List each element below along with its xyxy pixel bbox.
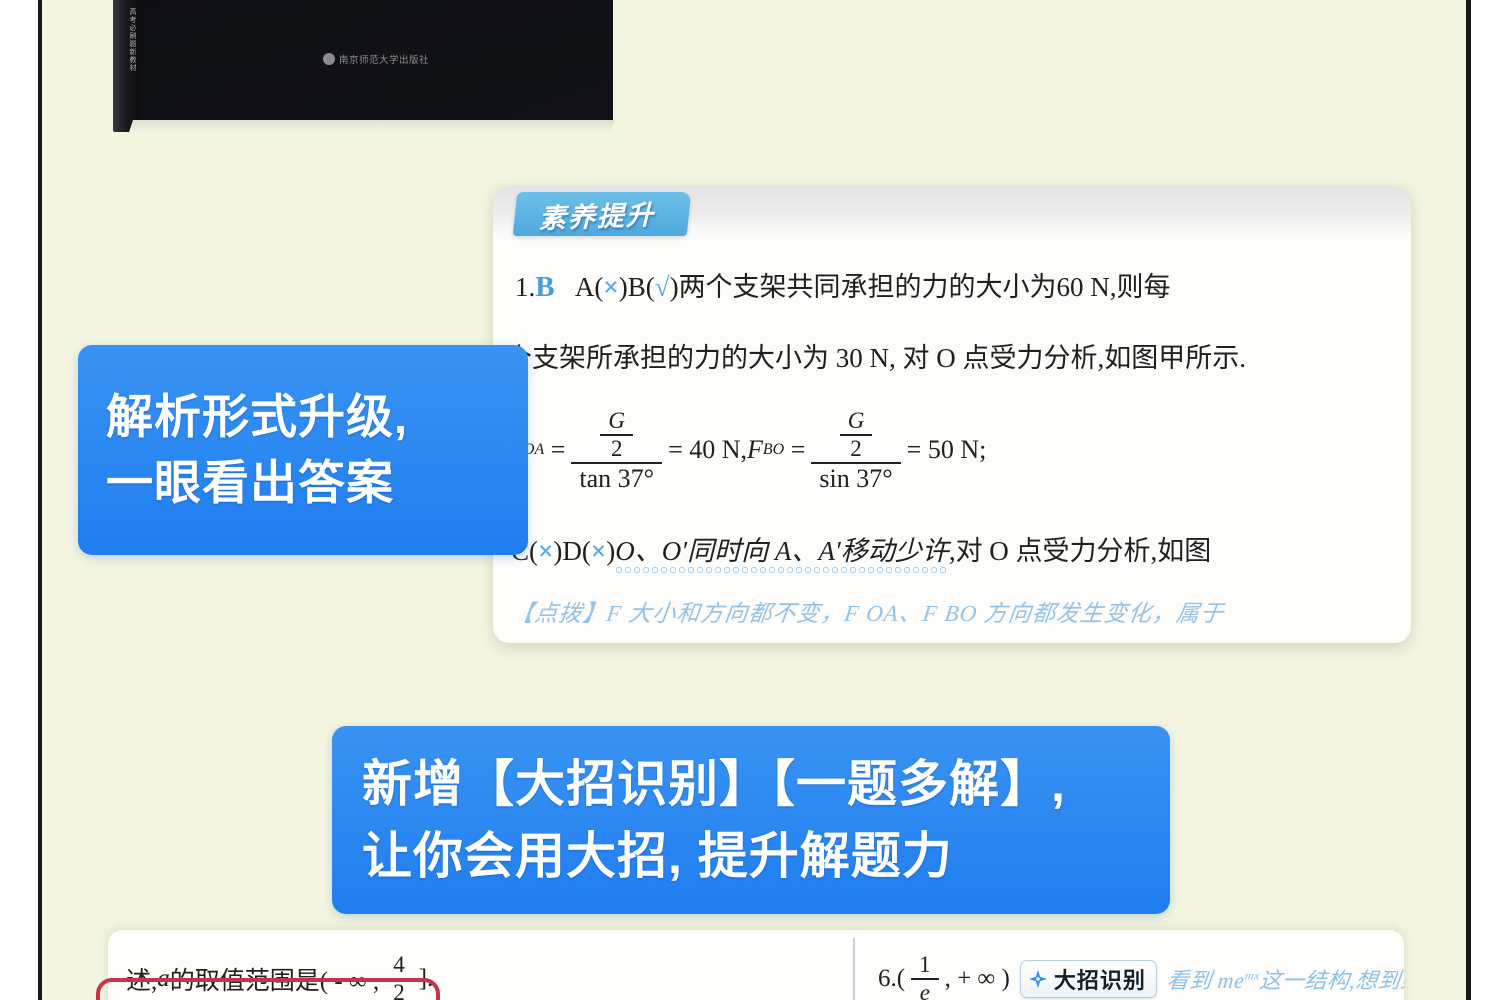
dazhao-badge-label: 大招识别 (1054, 963, 1146, 995)
product-detail-page: 语文 新高考版 南京师范大学出版社 高考必刷题新教材 素养提升 1.B A(×)… (0, 0, 1500, 1000)
formula-f1-denominator: tan 37° (571, 464, 662, 493)
answer-line-3: C(×)D(×)O、O′同时向 A、A′移动少许,对 O 点受力分析,如图 (511, 534, 1211, 568)
bottom-right-answer: 6.( 1 e , + ∞ ) 大招识别 看到 memx这一结构,想到乘 x 将 (878, 952, 1404, 1000)
answer-line-3-underlined: O、O′同时向 A、A′移动少许 (615, 536, 949, 576)
column-divider (853, 938, 855, 1000)
bottom-right-frac-num: 1 (911, 952, 939, 978)
option-c-close: )D( (553, 536, 590, 566)
formula-f1-numerator: G 2 (586, 408, 647, 462)
formula-f1-inner-num: G (600, 408, 633, 434)
formula-f2-numerator: G 2 (826, 408, 887, 462)
answer-line-3-rest: ,对 O 点受力分析,如图 (949, 536, 1212, 566)
hand-text-superscript: mx (1244, 968, 1260, 982)
book-spine-text: 高考必刷题新教材 (116, 8, 136, 104)
page-right-rule (1466, 0, 1471, 1000)
formula-f2-inner-num: G (840, 408, 873, 434)
callout-dazhao-shibie: 新增【大招识别】【一题多解】, 让你会用大招, 提升解题力 (332, 726, 1170, 914)
formula-f2-name: F (747, 435, 763, 465)
formula-f2-fraction: G 2 sin 37° (811, 408, 900, 493)
formula-equals-1: = (544, 435, 565, 465)
callout-analysis-upgrade: 解析形式升级, 一眼看出答案 (78, 345, 528, 555)
option-d-mark: × (591, 536, 606, 566)
option-b-mark: √ (655, 272, 670, 302)
bottom-right-fraction: 1 e (911, 952, 939, 1000)
publisher-logo-icon (323, 53, 335, 65)
section-tab-suyang-tisheng: 素养提升 (513, 192, 692, 236)
option-b-close: ) (670, 272, 679, 302)
answer-line-1-text: 两个支架共同承担的力的大小为60 N,则每 (679, 272, 1171, 302)
option-c-mark: × (538, 536, 553, 566)
option-d-close: ) (606, 536, 615, 566)
formula-f1-result: = 40 N, (668, 435, 747, 465)
formula-f2-result: = 50 N; (907, 435, 987, 465)
question-number: 1. (515, 272, 535, 302)
physics-answer-card: 素养提升 1.B A(×)B(√)两个支架共同承担的力的大小为60 N,则每 个… (493, 186, 1411, 643)
hand-text-part-2: 这一结构,想到乘 x 将 (1258, 968, 1404, 993)
formula-equals-2: = (784, 435, 805, 465)
callout-analysis-line-2: 一眼看出答案 (106, 450, 528, 516)
page-left-rule (38, 0, 42, 1000)
publisher-name: 南京师范大学出版社 (339, 52, 429, 66)
callout-analysis-line-1: 解析形式升级, (106, 384, 528, 450)
dazhao-shibie-badge: 大招识别 (1020, 960, 1157, 998)
formula-f2-subscript: BO (763, 441, 784, 459)
formula-f1-fraction: G 2 tan 37° (571, 408, 662, 493)
sparkle-star-icon (1027, 968, 1049, 990)
bottom-right-frac-den: e (912, 980, 938, 1000)
bottom-right-paren-open: ( (897, 965, 905, 993)
callout-dazhao-line-1: 新增【大招识别】【一题多解】, (362, 748, 1170, 820)
publisher-line: 南京师范大学出版社 (323, 52, 429, 66)
callout-dazhao-line-2: 让你会用大招, 提升解题力 (362, 820, 1170, 892)
red-highlight-outline (96, 978, 440, 1000)
bottom-left-frac-num: 4 (385, 952, 413, 978)
option-a-close: )B( (619, 272, 655, 302)
book-spine: 高考必刷题新教材 (113, 0, 139, 132)
bottom-right-handwriting: 看到 memx这一结构,想到乘 x 将 (1165, 963, 1404, 995)
hand-text-part-1: 看到 me (1165, 968, 1245, 993)
answer-line-2: 个支架所承担的力的大小为 30 N, 对 O 点受力分析,如图甲所示. (505, 341, 1246, 375)
book-bottom-edge (129, 120, 615, 132)
answer-letter: B (535, 271, 554, 303)
bottom-right-number: 6. (878, 965, 897, 993)
formula-f2-inner-den: 2 (842, 436, 870, 462)
formula-f2-denominator: sin 37° (811, 464, 900, 493)
force-formula-row: FOA = G 2 tan 37° = 40 N, FBO = (507, 408, 986, 493)
book-cover-image: 语文 新高考版 南京师范大学出版社 高考必刷题新教材 (113, 0, 613, 132)
bottom-right-plus-infinity: , + ∞ ) (945, 965, 1010, 993)
answer-line-1: 1.B A(×)B(√)两个支架共同承担的力的大小为60 N,则每 (515, 270, 1171, 304)
option-a-mark: × (603, 272, 618, 302)
option-a-open: A( (575, 272, 604, 302)
handwritten-hint-note: 【点拨】F 大小和方向都不变，F OA、F BO 方向都发生变化，属于 (509, 594, 1227, 628)
section-tab-label: 素养提升 (539, 192, 655, 235)
formula-f1-inner-den: 2 (603, 436, 631, 462)
formula-f2-inner-fraction: G 2 (840, 408, 873, 462)
book-front-face: 语文 新高考版 南京师范大学出版社 (139, 0, 613, 120)
formula-f1-inner-fraction: G 2 (600, 408, 633, 462)
